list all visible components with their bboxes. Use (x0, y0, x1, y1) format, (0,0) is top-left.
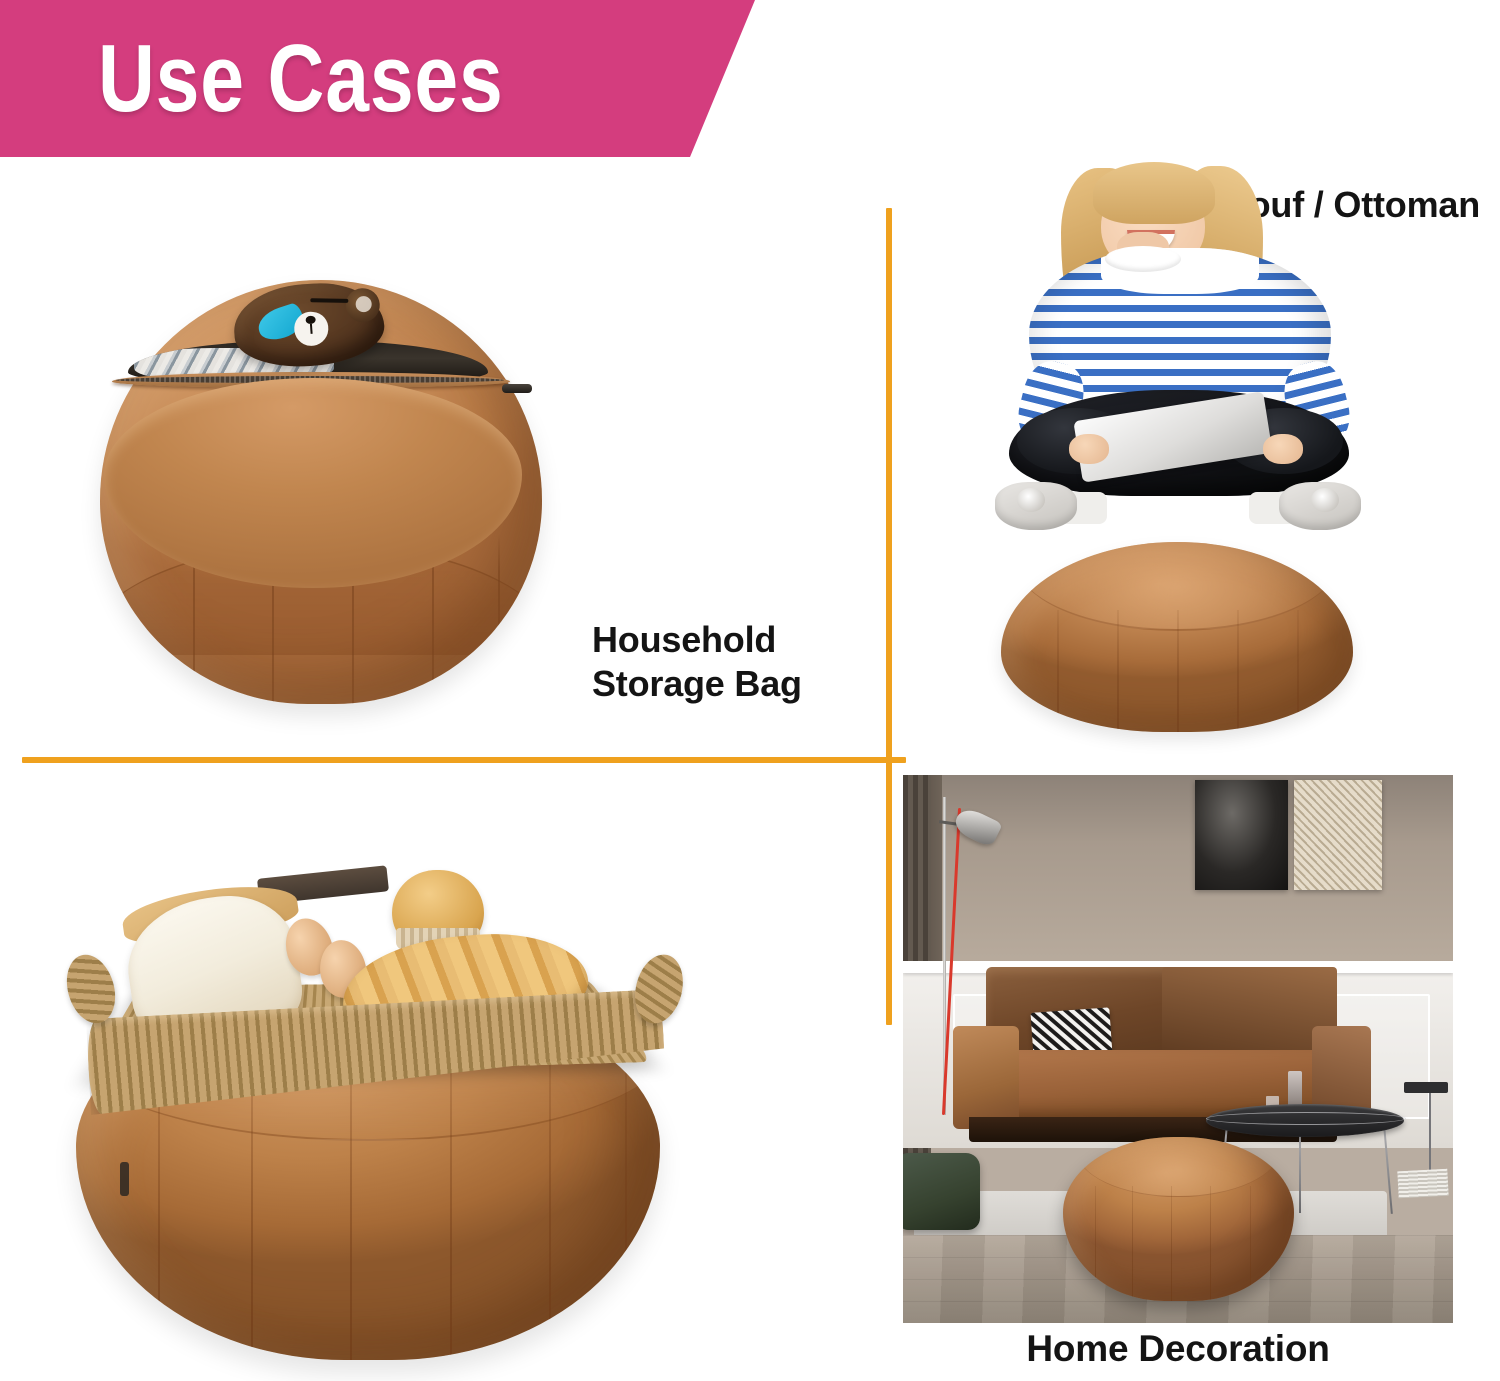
pouf-seam (1057, 610, 1059, 732)
pouf-seam (1095, 1186, 1096, 1301)
girl-hand-right (1263, 434, 1303, 464)
shoe-flower-left (1017, 488, 1045, 512)
pouf-seam (549, 1058, 551, 1360)
shirt-collar (1105, 246, 1181, 272)
side-table (1404, 1082, 1448, 1093)
teddy-eye (310, 298, 348, 303)
header-banner: Use Cases (0, 0, 760, 157)
label-line-2: Storage Bag (592, 662, 802, 706)
girl-hand-left (1069, 434, 1109, 464)
pouf-seam (625, 1058, 627, 1360)
artwork-dark (1195, 780, 1289, 890)
pouf-seam (1171, 1186, 1172, 1301)
sofa-backrest-right (1162, 967, 1338, 1058)
pouf-seam (1210, 1186, 1211, 1301)
pouf-seam (1297, 610, 1299, 732)
page-title: Use Cases (98, 31, 504, 127)
girl-hair-top (1093, 162, 1215, 224)
decor-pouf-body (1063, 1137, 1294, 1301)
pouf-seam (1177, 610, 1179, 732)
pouf-brand-tag (120, 1162, 129, 1196)
pouf-seam (350, 1058, 352, 1360)
infographic-root: Use Cases Household (0, 0, 1500, 1381)
pouf-seam (1132, 1186, 1133, 1301)
horizontal-divider (22, 757, 906, 763)
coffee-table-rim (1206, 1112, 1406, 1125)
label-line-1: Household (592, 618, 802, 662)
image-home-decoration (903, 775, 1453, 1323)
image-pouf-side-table (62, 862, 686, 1362)
pouf-seam (1117, 610, 1119, 732)
image-pouf-ottoman (965, 212, 1395, 724)
bag-seam (498, 534, 500, 704)
sofa-arm-left (953, 1026, 1020, 1129)
label-household-storage-bag: Household Storage Bag (592, 618, 802, 706)
image-household-storage-bag (82, 252, 560, 722)
vertical-divider (886, 208, 892, 1025)
pouf-ottoman-body (1001, 542, 1353, 732)
pouf-seam (1237, 610, 1239, 732)
pouf-seam (1250, 1186, 1251, 1301)
side-table-leg (1429, 1093, 1431, 1170)
pouf-seam (450, 1058, 452, 1360)
zipper-pull-icon (502, 384, 532, 393)
artwork-textured (1294, 780, 1382, 890)
pouf-seam (251, 1058, 253, 1360)
stacked-books (1397, 1168, 1448, 1198)
shoe-flower-right (1311, 488, 1339, 512)
green-ottoman (903, 1153, 980, 1230)
coffee-table-leg (1299, 1126, 1301, 1214)
label-home-decoration: Home Decoration (903, 1326, 1453, 1372)
